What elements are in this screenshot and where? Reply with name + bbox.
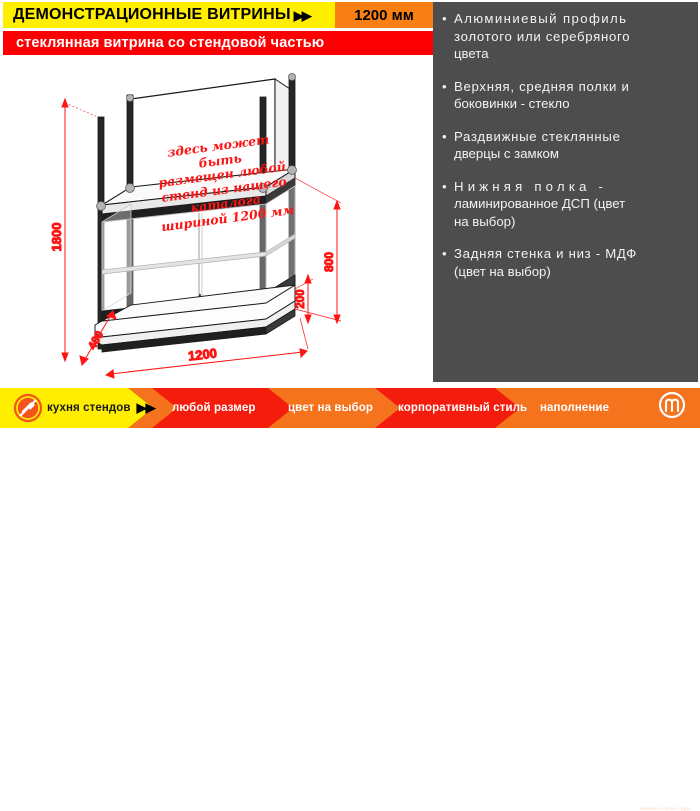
- header-arrows-icon: ▶▶: [294, 9, 310, 22]
- header-title-text: ДЕМОНСТРАЦИОННЫЕ ВИТРИНЫ: [13, 6, 291, 24]
- bottom-banner: кухня стендов ▶▶ любой размер цвет на вы…: [0, 388, 700, 428]
- dim-width: 1200: [187, 345, 217, 363]
- spec-line: дверцы с замком: [454, 145, 690, 163]
- list-item: • Задняя стенка и низ - МДФ (цвет на выб…: [441, 245, 690, 280]
- bullet-icon: •: [442, 245, 447, 263]
- spec-line: на выбор): [454, 213, 690, 231]
- poster-canvas: ДЕМОНСТРАЦИОННЫЕ ВИТРИНЫ ▶▶ 1200 мм стек…: [0, 0, 700, 428]
- bullet-icon: •: [442, 128, 447, 146]
- banner-segment-1[interactable]: любой размер: [172, 388, 256, 428]
- stand-kitchen-icon: [15, 395, 41, 421]
- dim-case-height: 800: [322, 252, 336, 272]
- spec-line: золотого или серебряного: [454, 28, 690, 46]
- list-item: • Алюминиевый профиль золотого или сереб…: [441, 10, 690, 63]
- width-badge: 1200 мм: [335, 2, 433, 28]
- dim-base-height: 200: [295, 289, 307, 308]
- list-item: • Нижняя полка - ламинированное ДСП (цве…: [441, 178, 690, 231]
- banner-segment-3[interactable]: корпоративный стиль: [398, 388, 527, 428]
- brand-caption: магазин охраны труда: [632, 806, 700, 811]
- header-bar: ДЕМОНСТРАЦИОННЫЕ ВИТРИНЫ ▶▶ 1200 мм: [3, 2, 433, 28]
- bullet-icon: •: [442, 78, 447, 96]
- spec-line: боковинки - стекло: [454, 95, 690, 113]
- header-subtitle: стеклянная витрина со стендовой частью: [3, 31, 433, 55]
- spec-line: ламинированное ДСП (цвет: [454, 195, 690, 213]
- banner-segment-4[interactable]: наполнение: [540, 388, 609, 428]
- spec-line: Раздвижные стеклянные: [454, 128, 690, 146]
- list-item: • Раздвижные стеклянные дверцы с замком: [441, 128, 690, 163]
- spec-line: Алюминиевый профиль: [454, 10, 690, 28]
- product-drawing: 1800 800 200: [3, 57, 433, 382]
- header-title: ДЕМОНСТРАЦИОННЫЕ ВИТРИНЫ ▶▶: [3, 2, 335, 28]
- spec-line: Нижняя полка -: [454, 178, 690, 196]
- bullet-icon: •: [442, 10, 447, 28]
- left-column: ДЕМОНСТРАЦИОННЫЕ ВИТРИНЫ ▶▶ 1200 мм стек…: [3, 2, 433, 382]
- banner-segment-0-label: кухня стендов: [47, 402, 131, 414]
- banner-segment-0[interactable]: кухня стендов ▶▶: [47, 388, 155, 428]
- spec-line: Верхняя, средняя полки и: [454, 78, 690, 96]
- list-item: • Верхняя, средняя полки и боковинки - с…: [441, 78, 690, 113]
- spec-line: цвета: [454, 45, 690, 63]
- banner-arrows-icon: ▶▶: [137, 400, 155, 416]
- bullet-icon: •: [442, 178, 447, 196]
- dim-height-total: 1800: [49, 223, 64, 252]
- banner-segment-2[interactable]: цвет на выбор: [288, 388, 373, 428]
- specs-list: • Алюминиевый профиль золотого или сереб…: [441, 10, 690, 280]
- spec-line: Задняя стенка и низ - МДФ: [454, 245, 690, 263]
- showcase-isometric-svg: 1800 800 200: [3, 57, 433, 382]
- specs-panel: • Алюминиевый профиль золотого или сереб…: [433, 2, 698, 382]
- spec-line: (цвет на выбор): [454, 263, 690, 281]
